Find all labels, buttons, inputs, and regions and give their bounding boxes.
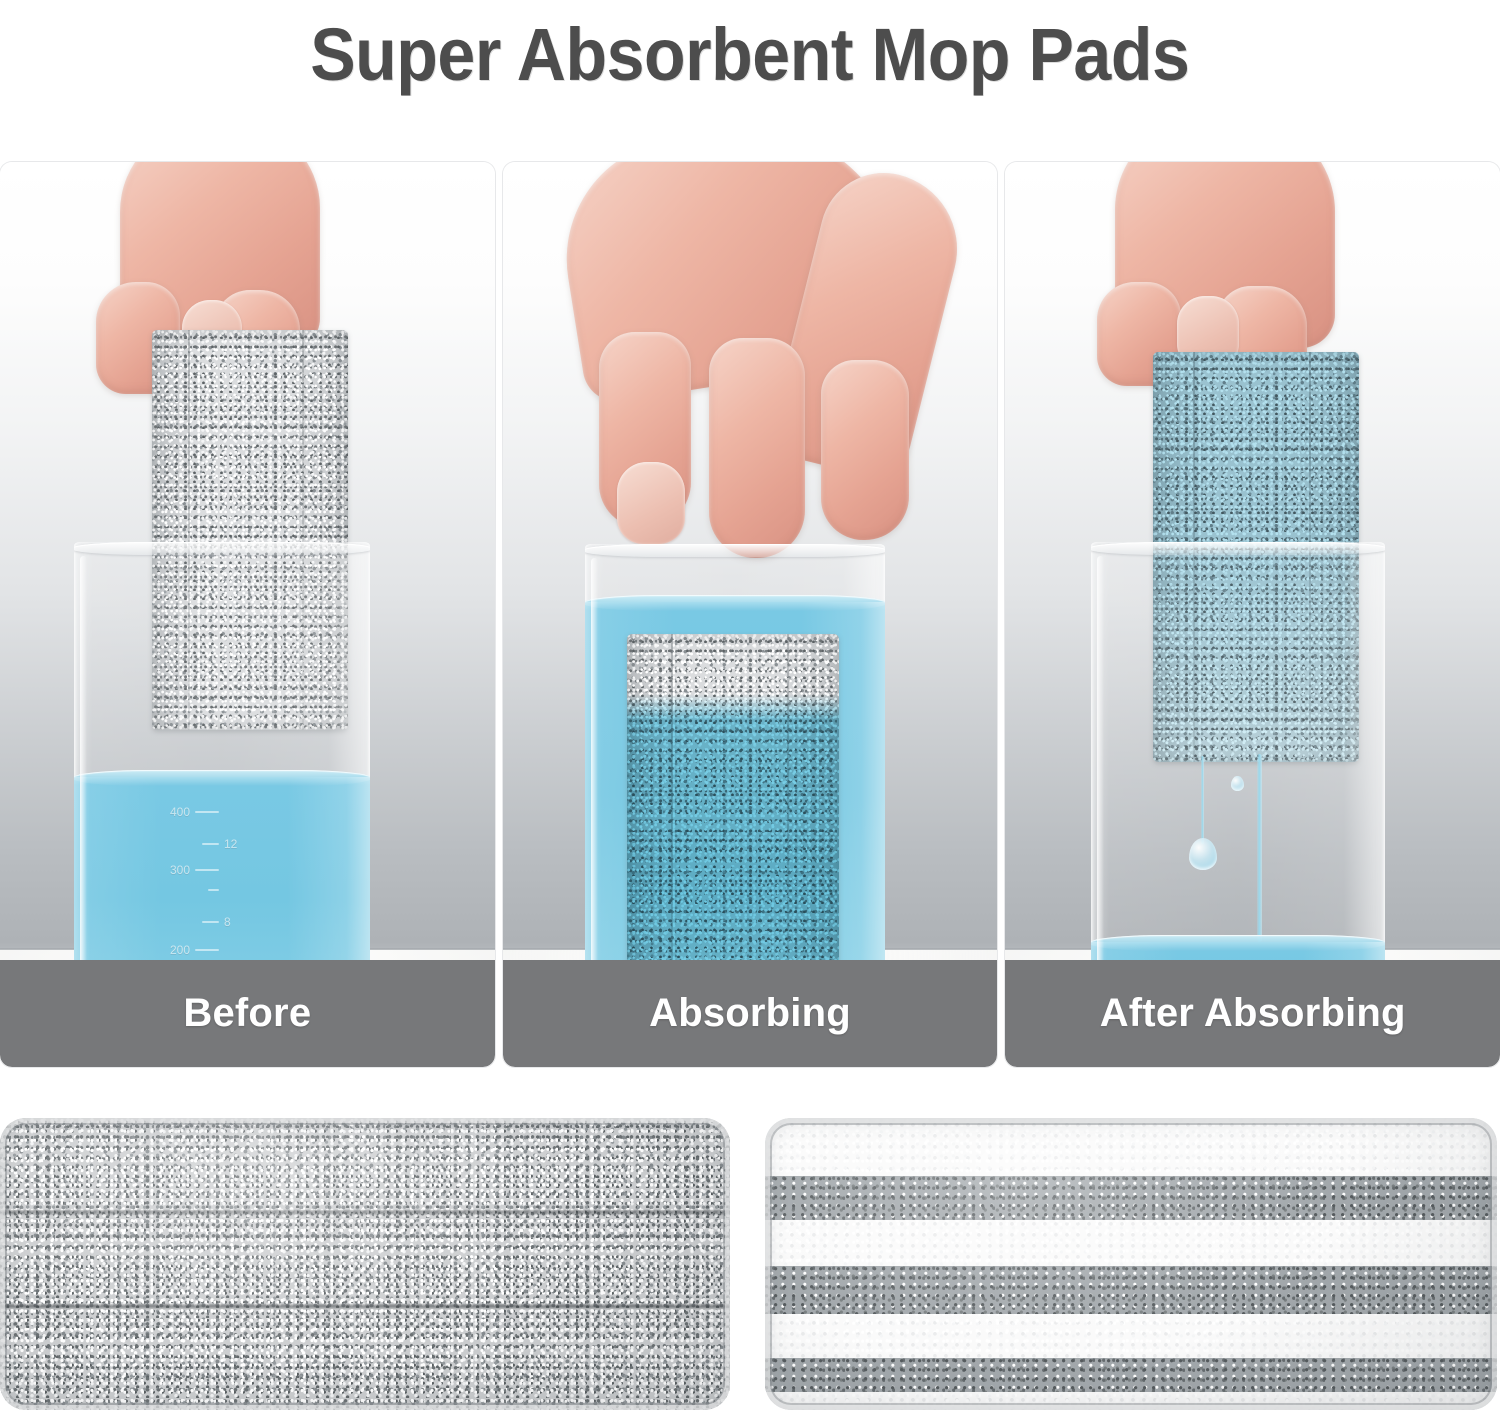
tick-mark — [202, 921, 219, 923]
demo-panel-absorbing: Absorbing — [503, 162, 998, 1067]
demo-panel-row: 400 12 300 — [0, 162, 1500, 1067]
caption-label: Absorbing — [649, 991, 851, 1036]
caption-bar-after-absorbing: After Absorbing — [1005, 960, 1500, 1067]
mark-ml-200: 200 — [170, 943, 190, 957]
gray-chenille-mop-pad — [0, 1118, 730, 1410]
mark-oz-12: 12 — [224, 837, 237, 851]
tick-mark — [195, 811, 219, 813]
caption-bar-before: Before — [0, 960, 495, 1067]
tick-mark — [195, 949, 219, 951]
title-bar: Super Absorbent Mop Pads — [0, 0, 1500, 108]
product-pads-row — [0, 1118, 1500, 1413]
tick-mark — [208, 889, 219, 891]
page-title: Super Absorbent Mop Pads — [310, 12, 1189, 97]
mark-ml-400: 400 — [170, 805, 190, 819]
mark-ml-300: 300 — [170, 863, 190, 877]
demo-panel-before: 400 12 300 — [0, 162, 495, 1067]
caption-bar-absorbing: Absorbing — [503, 960, 998, 1067]
mark-oz-8: 8 — [224, 915, 231, 929]
tick-mark — [202, 843, 219, 845]
demo-panel-after-absorbing: 200 6 After Absorbing — [1005, 162, 1500, 1067]
pad-stitched-edge — [765, 1118, 1497, 1410]
caption-label: Before — [183, 991, 311, 1036]
pad-stitched-edge — [0, 1118, 730, 1410]
white-striped-mop-pad — [765, 1118, 1497, 1410]
caption-label: After Absorbing — [1100, 991, 1406, 1036]
tick-mark — [195, 869, 219, 871]
